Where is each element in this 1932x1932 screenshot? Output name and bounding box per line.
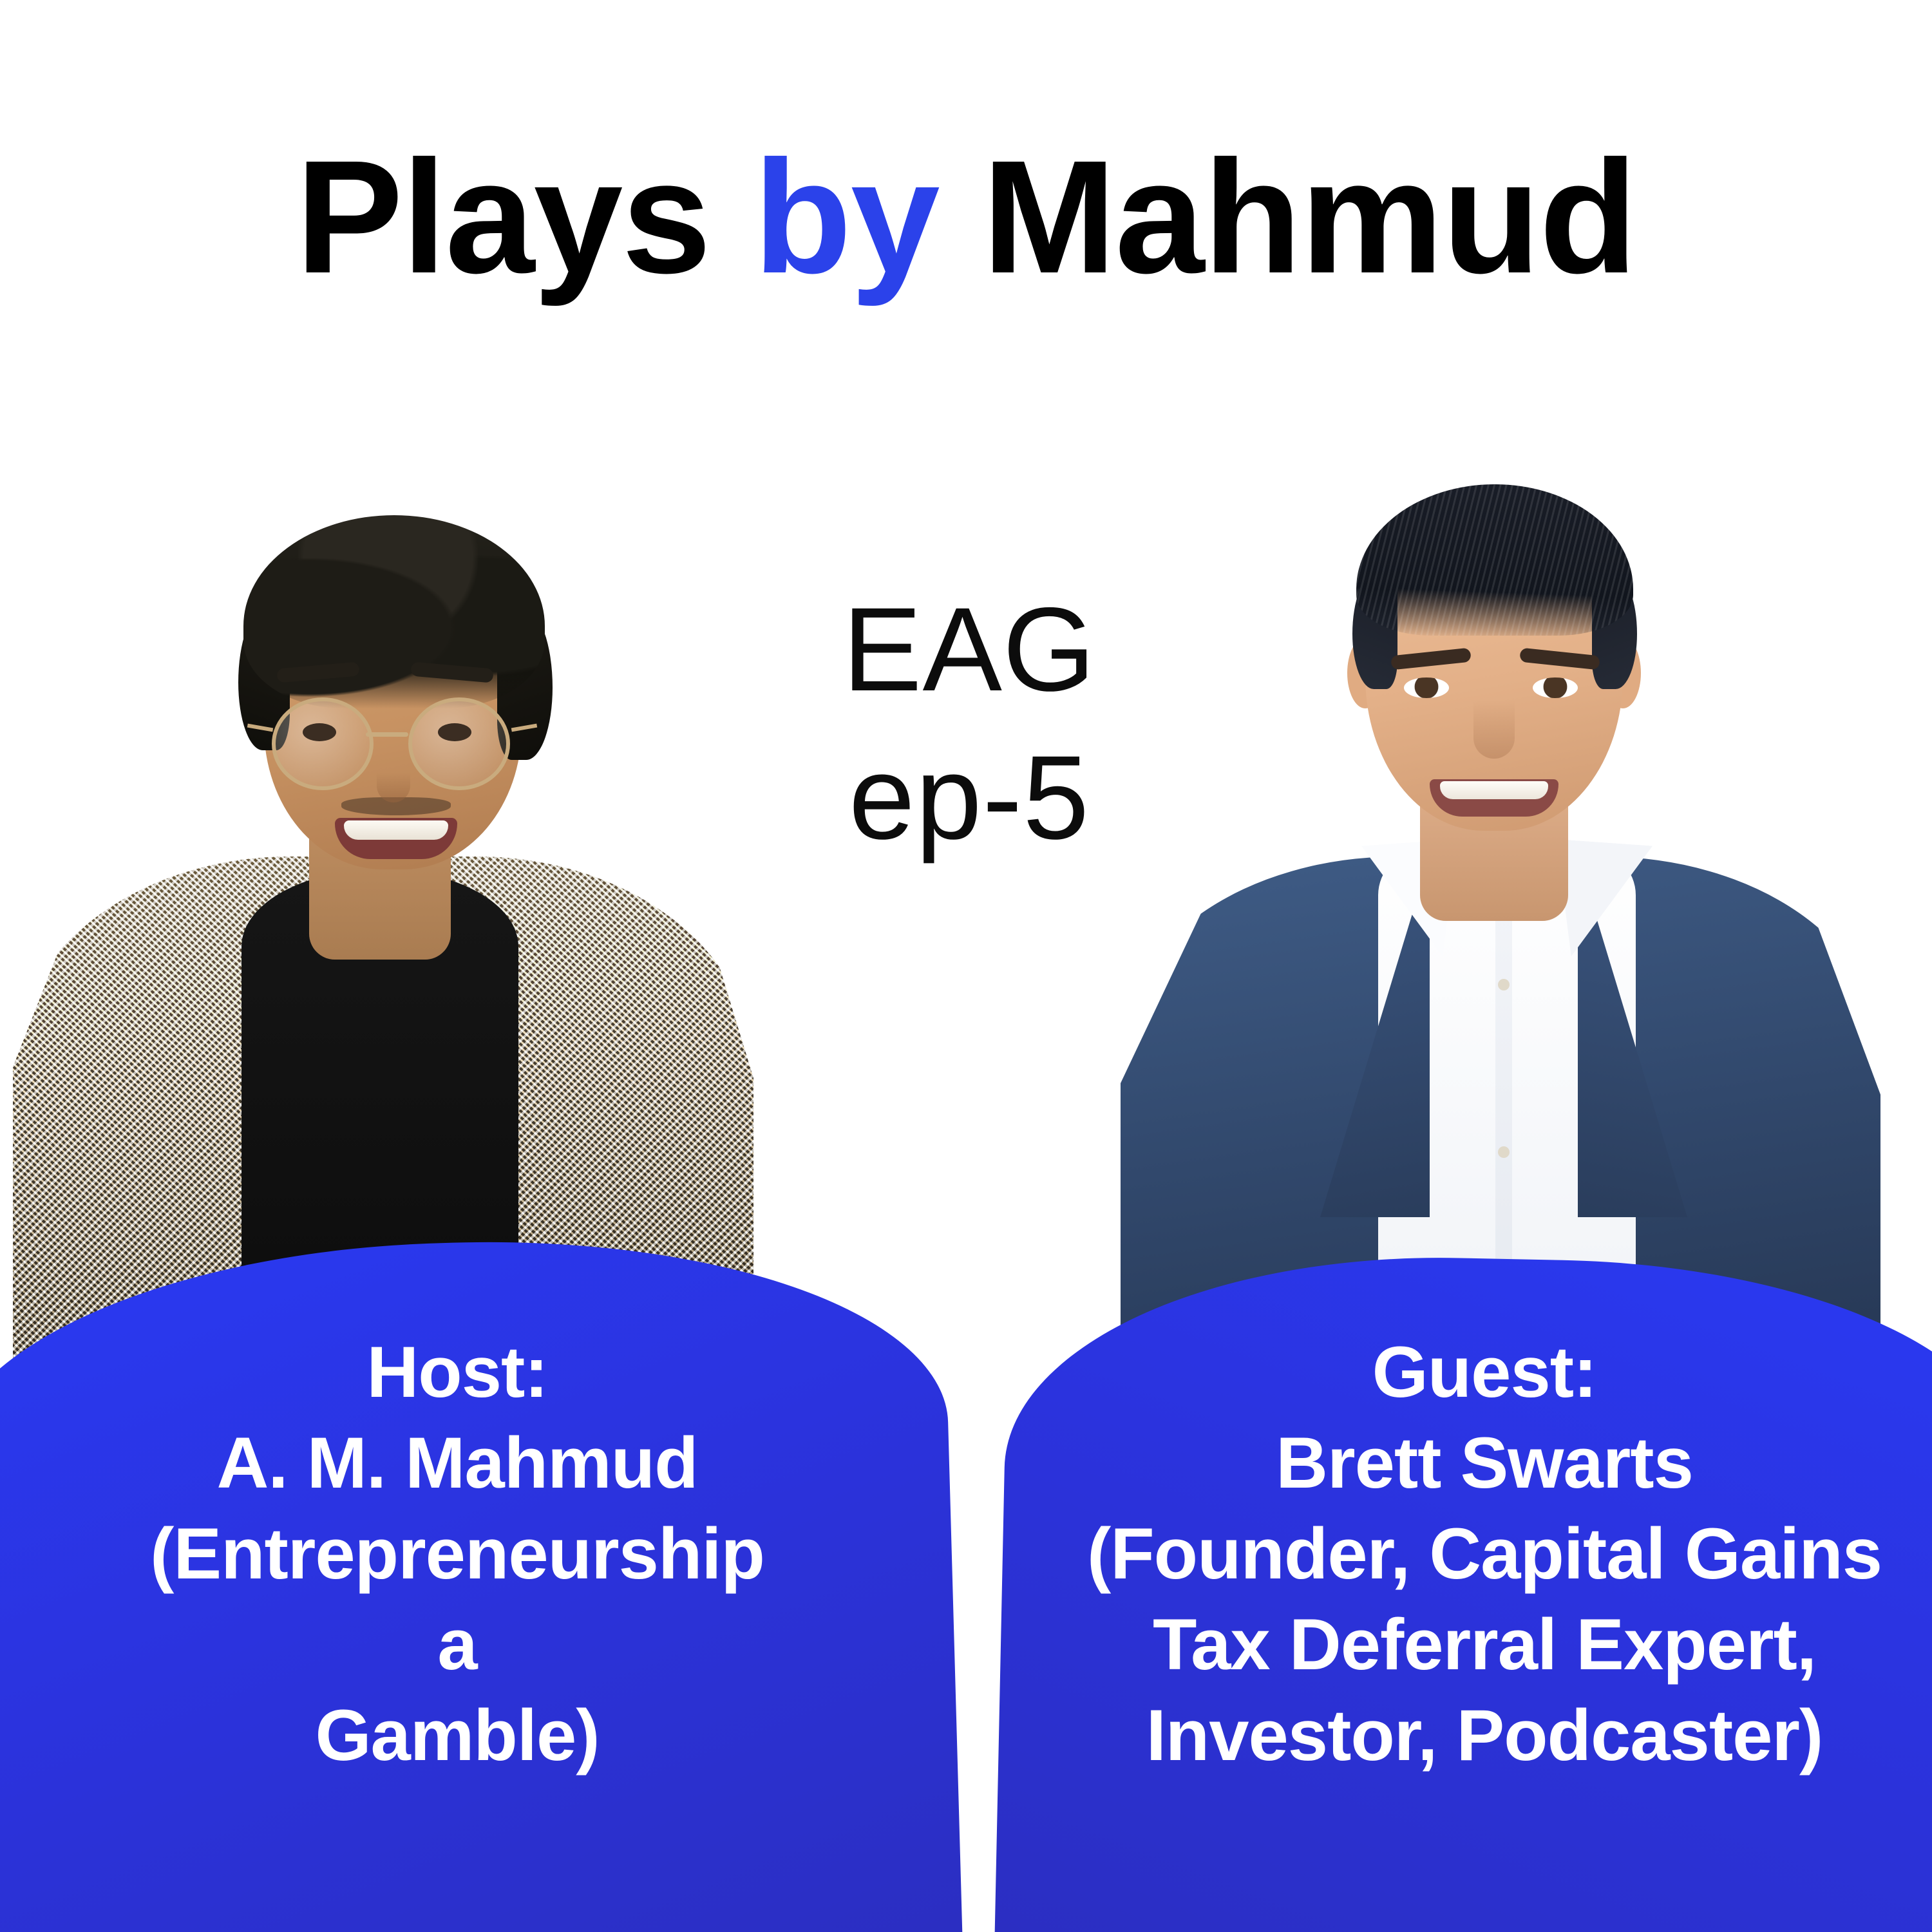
host-eye-right: [438, 723, 471, 741]
title-word-plays: Plays: [296, 137, 710, 298]
guest-hair: [1356, 484, 1633, 636]
host-glasses-bridge: [366, 732, 408, 737]
guest-shirt-button-1: [1498, 979, 1510, 990]
eyeglasses-icon: [256, 692, 529, 782]
host-lens-right: [408, 697, 510, 790]
host-descriptor-line-1: (Entrepreneurship: [0, 1508, 934, 1599]
host-role-label: Host:: [0, 1327, 934, 1417]
show-code: EAG: [744, 580, 1195, 720]
host-info-card: Host: A. M. Mahmud (Entrepreneurship a G…: [0, 1327, 934, 1781]
guest-name: Brett Swarts: [1011, 1417, 1932, 1508]
guest-role-label: Guest:: [1011, 1327, 1932, 1417]
title-word-by: by: [753, 137, 939, 298]
guest-eye-right: [1533, 677, 1578, 698]
host-teeth: [344, 820, 448, 840]
episode-number: ep-5: [744, 728, 1195, 868]
guest-info-card: Guest: Brett Swarts (Founder, Capital Ga…: [1011, 1327, 1932, 1781]
page-title: Plays by Mahmud: [0, 137, 1932, 298]
title-word-mahmud: Mahmud: [982, 137, 1636, 298]
host-smile: [335, 818, 457, 859]
host-name: A. M. Mahmud: [0, 1417, 934, 1508]
podcast-cover-art: Plays by Mahmud EAG ep-5: [0, 0, 1932, 1932]
guest-nose: [1473, 701, 1515, 759]
episode-label: EAG ep-5: [744, 580, 1195, 869]
host-descriptor-line-3: Gamble): [0, 1690, 934, 1781]
guest-shirt-button-2: [1498, 1146, 1510, 1158]
guest-eye-left: [1404, 677, 1449, 698]
guest-smile: [1430, 779, 1558, 817]
host-eye-left: [303, 723, 336, 741]
guest-teeth: [1440, 781, 1548, 799]
host-descriptor-line-2: a: [0, 1599, 934, 1690]
guest-descriptor-line-1: (Founder, Capital Gains: [1011, 1508, 1932, 1599]
guest-descriptor-line-3: Investor, Podcaster): [1011, 1690, 1932, 1781]
guest-descriptor-line-2: Tax Deferral Expert,: [1011, 1599, 1932, 1690]
host-lens-left: [272, 697, 374, 790]
